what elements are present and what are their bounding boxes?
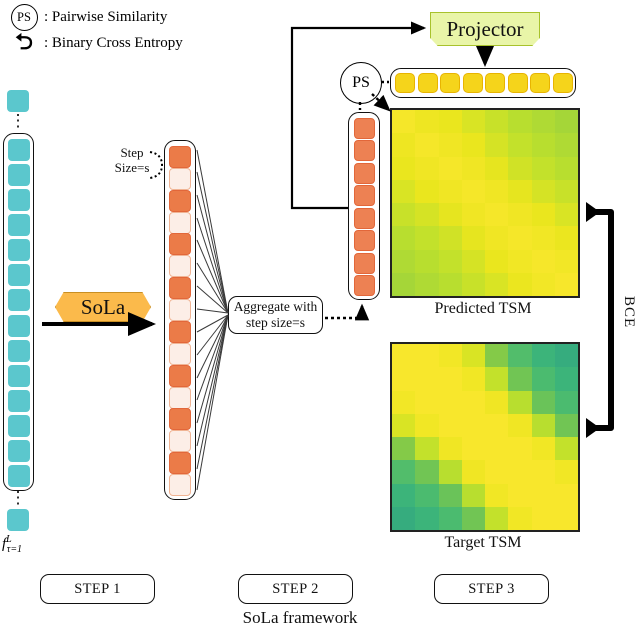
projector-module[interactable]: Projector [430, 12, 540, 46]
input-label-sub: τ=1 [7, 544, 22, 555]
heatmap-cell [555, 110, 578, 133]
heatmap-cell [485, 273, 508, 296]
projected-embedding-square [530, 73, 550, 93]
heatmap-cell [439, 226, 462, 249]
heatmap-cell [555, 367, 578, 390]
heatmap-cell [485, 367, 508, 390]
heatmap-cell [415, 367, 438, 390]
input-feature-square [8, 340, 30, 362]
heatmap-cell [439, 273, 462, 296]
sola-token-unselected [169, 387, 191, 409]
sola-token-unselected [169, 299, 191, 321]
heatmap-cell [392, 437, 415, 460]
heatmap-cell [508, 110, 531, 133]
heatmap-cell [532, 344, 555, 367]
ps-node[interactable]: PS [340, 62, 380, 102]
heatmap-cell [532, 437, 555, 460]
heatmap-cell [485, 157, 508, 180]
heatmap-cell [485, 250, 508, 273]
heatmap-cell [508, 391, 531, 414]
heatmap-cell [462, 414, 485, 437]
heatmap-cell [555, 203, 578, 226]
predicted-tsm-heatmap [390, 108, 580, 298]
aggregated-token-square [354, 140, 375, 161]
heatmap-cell [485, 484, 508, 507]
heatmap-cell [439, 344, 462, 367]
sola-token-selected [169, 190, 191, 212]
sola-label: SoLa [81, 295, 125, 320]
heatmap-cell [532, 157, 555, 180]
heatmap-cell [462, 460, 485, 483]
input-feature-square [8, 465, 30, 487]
heatmap-cell [439, 110, 462, 133]
aggregate-line2: step size=s [234, 315, 318, 331]
heatmap-cell [439, 250, 462, 273]
projected-embedding-square [418, 73, 438, 93]
aggregated-token-square [354, 208, 375, 229]
heatmap-cell [392, 391, 415, 414]
heatmap-cell [392, 226, 415, 249]
sola-token-unselected [169, 168, 191, 190]
heatmap-cell [555, 133, 578, 156]
binary-cross-entropy-icon: ⮌ [6, 32, 42, 54]
heatmap-cell [555, 226, 578, 249]
heatmap-cell [485, 391, 508, 414]
heatmap-cell [555, 273, 578, 296]
projected-embedding-square [553, 73, 573, 93]
heatmap-cell [415, 157, 438, 180]
heatmap-cell [439, 460, 462, 483]
heatmap-cell [392, 484, 415, 507]
heatmap-cell [439, 391, 462, 414]
heatmap-cell [508, 507, 531, 530]
heatmap-cell [439, 157, 462, 180]
heatmap-cell [415, 203, 438, 226]
step-box-3: STEP 3 [434, 574, 549, 604]
heatmap-cell [392, 367, 415, 390]
heatmap-cell [439, 437, 462, 460]
heatmap-cell [508, 367, 531, 390]
sola-token-selected [169, 365, 191, 387]
ps-circle-label: PS [11, 4, 38, 31]
sola-token-unselected [169, 212, 191, 234]
input-feature-square [8, 289, 30, 311]
sola-token-column [164, 140, 196, 500]
heatmap-cell [508, 273, 531, 296]
aggregated-token-square [354, 275, 375, 296]
heatmap-cell [532, 414, 555, 437]
projected-embedding-square [463, 73, 483, 93]
heatmap-cell [532, 203, 555, 226]
heatmap-cell [462, 344, 485, 367]
heatmap-cell [439, 133, 462, 156]
heatmap-cell [462, 437, 485, 460]
legend-row-bce: ⮌ : Binary Cross Entropy [6, 30, 326, 56]
heatmap-cell [415, 110, 438, 133]
heatmap-cell [462, 226, 485, 249]
bce-label: BCE [620, 296, 637, 328]
heatmap-cell [485, 344, 508, 367]
heatmap-cell [392, 273, 415, 296]
heatmap-cell [532, 507, 555, 530]
heatmap-cell [508, 344, 531, 367]
heatmap-cell [532, 367, 555, 390]
predicted-tsm-label: Predicted TSM [390, 300, 576, 318]
heatmap-cell [508, 250, 531, 273]
sola-token-selected [169, 321, 191, 343]
input-dots-top: ⋮ [7, 118, 29, 132]
framework-caption: SoLa framework [200, 608, 400, 628]
input-feature-square [8, 365, 30, 387]
heatmap-cell [555, 460, 578, 483]
heatmap-cell [392, 460, 415, 483]
step-size-line1: Step [104, 146, 160, 161]
projected-embedding-square [440, 73, 460, 93]
sola-token-unselected [169, 343, 191, 365]
heatmap-cell [415, 273, 438, 296]
heatmap-cell [392, 180, 415, 203]
input-feature-square [8, 315, 30, 337]
input-feature-square [8, 390, 30, 412]
heatmap-cell [508, 203, 531, 226]
input-dots-bottom: ⋮ [7, 495, 29, 509]
step-1-label: STEP 1 [74, 581, 121, 598]
aggregated-token-square [354, 118, 375, 139]
heatmap-cell [532, 273, 555, 296]
heatmap-cell [439, 367, 462, 390]
heatmap-cell [555, 484, 578, 507]
heatmap-cell [415, 414, 438, 437]
aggregated-token-square [354, 253, 375, 274]
input-feature-square [8, 214, 30, 236]
step-size-line2: Size=s [104, 161, 160, 176]
aggregated-token-square [354, 163, 375, 184]
sola-token-unselected [169, 430, 191, 452]
aggregated-token-square [354, 230, 375, 251]
heatmap-cell [392, 157, 415, 180]
input-feature-square [8, 440, 30, 462]
step-2-label: STEP 2 [272, 581, 319, 598]
heatmap-cell [555, 157, 578, 180]
heatmap-cell [392, 414, 415, 437]
step-size-label: Step Size=s [104, 146, 160, 176]
heatmap-cell [415, 391, 438, 414]
heatmap-cell [555, 437, 578, 460]
heatmap-cell [532, 484, 555, 507]
legend-ps-text: : Pairwise Similarity [44, 9, 167, 26]
heatmap-cell [392, 133, 415, 156]
heatmap-cell [462, 484, 485, 507]
heatmap-cell [439, 180, 462, 203]
input-square-top [7, 90, 29, 112]
heatmap-cell [555, 391, 578, 414]
heatmap-cell [392, 250, 415, 273]
heatmap-cell [508, 460, 531, 483]
heatmap-cell [415, 460, 438, 483]
heatmap-cell [462, 203, 485, 226]
heatmap-cell [532, 110, 555, 133]
step-box-2: STEP 2 [238, 574, 353, 604]
heatmap-cell [415, 484, 438, 507]
heatmap-cell [392, 110, 415, 133]
legend-bce-text: : Binary Cross Entropy [44, 35, 183, 52]
heatmap-cell [555, 507, 578, 530]
heatmap-cell [462, 367, 485, 390]
heatmap-cell [532, 460, 555, 483]
projected-embedding-square [395, 73, 415, 93]
heatmap-cell [415, 507, 438, 530]
heatmap-cell [415, 133, 438, 156]
heatmap-cell [555, 180, 578, 203]
ps-node-label: PS [340, 62, 382, 104]
input-feature-square [8, 415, 30, 437]
sola-token-selected [169, 408, 191, 430]
input-feature-square [8, 139, 30, 161]
heatmap-cell [485, 460, 508, 483]
heatmap-cell [485, 437, 508, 460]
heatmap-cell [462, 273, 485, 296]
heatmap-cell [508, 484, 531, 507]
aggregate-line1: Aggregate with [234, 299, 318, 315]
sola-token-unselected [169, 255, 191, 277]
heatmap-cell [462, 133, 485, 156]
projected-embedding-row [390, 68, 576, 98]
heatmap-cell [555, 414, 578, 437]
heatmap-cell [532, 180, 555, 203]
heatmap-cell [415, 250, 438, 273]
heatmap-cell [485, 180, 508, 203]
heatmap-cell [439, 203, 462, 226]
heatmap-cell [508, 157, 531, 180]
heatmap-cell [508, 180, 531, 203]
heatmap-cell [508, 414, 531, 437]
projected-embedding-square [508, 73, 528, 93]
pairwise-similarity-icon: PS [6, 4, 42, 31]
step-3-label: STEP 3 [468, 581, 515, 598]
input-feature-square [8, 164, 30, 186]
heatmap-cell [485, 203, 508, 226]
projected-embedding-square [485, 73, 505, 93]
heatmap-cell [462, 157, 485, 180]
heatmap-cell [439, 507, 462, 530]
aggregated-token-square [354, 185, 375, 206]
heatmap-cell [508, 226, 531, 249]
heatmap-cell [485, 133, 508, 156]
heatmap-cell [485, 226, 508, 249]
input-feature-square [8, 264, 30, 286]
sola-token-unselected [169, 474, 191, 496]
heatmap-cell [485, 507, 508, 530]
aggregated-token-column [348, 112, 380, 300]
sola-token-selected [169, 233, 191, 255]
heatmap-cell [462, 250, 485, 273]
heatmap-cell [485, 414, 508, 437]
heatmap-cell [439, 414, 462, 437]
heatmap-cell [532, 250, 555, 273]
heatmap-cell [532, 226, 555, 249]
heatmap-cell [415, 180, 438, 203]
projector-label: Projector [447, 17, 524, 42]
heatmap-cell [508, 437, 531, 460]
input-feature-square [8, 239, 30, 261]
sola-token-selected [169, 277, 191, 299]
input-feature-column [3, 133, 34, 491]
bce-glyph: ⮌ [15, 32, 33, 54]
target-tsm-heatmap [390, 342, 580, 532]
input-feature-square [8, 189, 30, 211]
legend-row-ps: PS : Pairwise Similarity [6, 4, 326, 30]
heatmap-cell [415, 226, 438, 249]
heatmap-cell [392, 344, 415, 367]
sola-token-selected [169, 146, 191, 168]
heatmap-cell [415, 344, 438, 367]
heatmap-cell [485, 110, 508, 133]
heatmap-cell [392, 203, 415, 226]
heatmap-cell [415, 437, 438, 460]
heatmap-cell [462, 180, 485, 203]
sola-token-selected [169, 452, 191, 474]
sola-module[interactable]: SoLa [55, 292, 151, 322]
heatmap-cell [462, 391, 485, 414]
target-tsm-label: Target TSM [390, 534, 576, 552]
heatmap-cell [532, 133, 555, 156]
legend: PS : Pairwise Similarity ⮌ : Binary Cros… [6, 4, 326, 56]
heatmap-cell [392, 507, 415, 530]
input-square-bottom [7, 509, 29, 531]
heatmap-cell [555, 344, 578, 367]
input-column-label: fLτ=1 [2, 534, 52, 555]
heatmap-cell [462, 507, 485, 530]
heatmap-cell [555, 250, 578, 273]
heatmap-cell [439, 484, 462, 507]
heatmap-cell [532, 391, 555, 414]
heatmap-cell [508, 133, 531, 156]
step-box-1: STEP 1 [40, 574, 155, 604]
aggregate-box[interactable]: Aggregate with step size=s [228, 296, 323, 334]
heatmap-cell [462, 110, 485, 133]
